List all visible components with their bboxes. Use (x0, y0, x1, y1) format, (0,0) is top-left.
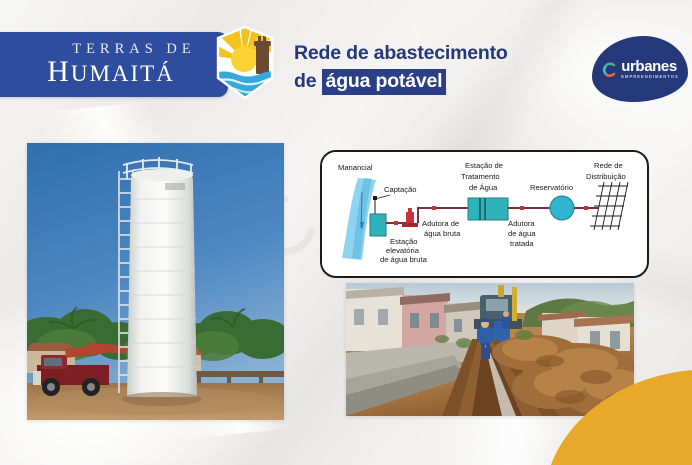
brand-a-acute: Á (156, 61, 175, 86)
urbanes-tagline: EMPREENDIMENTOS (621, 75, 679, 79)
page-title: Rede de abastecimento de água potável (294, 40, 584, 95)
worker-figure (502, 311, 510, 329)
brand-umait: UMAIT (71, 61, 156, 86)
slide-root: TERRAS DE HUMAITÁ (0, 0, 692, 465)
brand-line-humaita: HUMAITÁ (43, 57, 175, 87)
slide-header: TERRAS DE HUMAITÁ (0, 0, 692, 130)
diagram-label-adutora-tratada-l3: tratada (510, 239, 534, 248)
emblem-svg (214, 26, 276, 100)
diagram-label-reservatorio: Reservatório (530, 183, 573, 192)
brand-wordmark: TERRAS DE HUMAITÁ (0, 32, 228, 97)
c-circle-icon (601, 61, 618, 78)
diagram-label-rede-l2: Distribuição (586, 172, 626, 181)
diagram-label-eta-l3: de Água (469, 183, 498, 192)
urbanes-logo[interactable]: urbanes EMPREENDIMENTOS (592, 32, 688, 110)
terras-de-humaita-emblem (214, 26, 276, 100)
water-tower-photo (27, 143, 284, 420)
title-prefix: de (294, 70, 316, 92)
diagram-label-adutora-bruta-l1: Adutora de (422, 219, 459, 228)
diagram-label-estacao-elevatoria-l3: de água bruta (380, 255, 428, 264)
diagram-label-manancial: Manancial (338, 163, 373, 172)
diagram-label-captacao: Captação (384, 185, 417, 194)
c-circle-icon-svg (601, 61, 618, 78)
water-supply-system-diagram: Manancial Captação Estação elevatória de… (320, 150, 649, 278)
urbanes-wordmark: urbanes EMPREENDIMENTOS (621, 59, 679, 80)
urbanes-logo-content: urbanes EMPREENDIMENTOS (592, 36, 688, 102)
title-line-2: de água potável (294, 68, 584, 96)
diagram-label-rede-l1: Rede de (594, 161, 623, 170)
title-line-1: Rede de abastecimento (294, 40, 584, 68)
brand-h: H (47, 55, 71, 88)
diagram-label-adutora-tratada-l2: de água (508, 229, 536, 238)
diagram-label-adutora-bruta-l2: água bruta (424, 229, 461, 238)
title-highlight: água potável (322, 69, 447, 95)
pipeline-trench-photo-svg (346, 283, 634, 416)
diagram-label-eta-l2: Tratamento (461, 172, 500, 181)
diagram-svg: Manancial Captação Estação elevatória de… (322, 152, 643, 272)
urbanes-name: urbanes (621, 59, 679, 74)
diagram-label-adutora-tratada-l1: Adutora (508, 219, 535, 228)
diagram-label-eta-l1: Estação de (465, 161, 503, 170)
water-tower-photo-svg (27, 143, 284, 420)
diagram-label-estacao-elevatoria-l1: Estação (390, 237, 417, 246)
pipeline-trench-photo (346, 283, 634, 416)
diagram-label-estacao-elevatoria-l2: elevatória (386, 246, 420, 255)
